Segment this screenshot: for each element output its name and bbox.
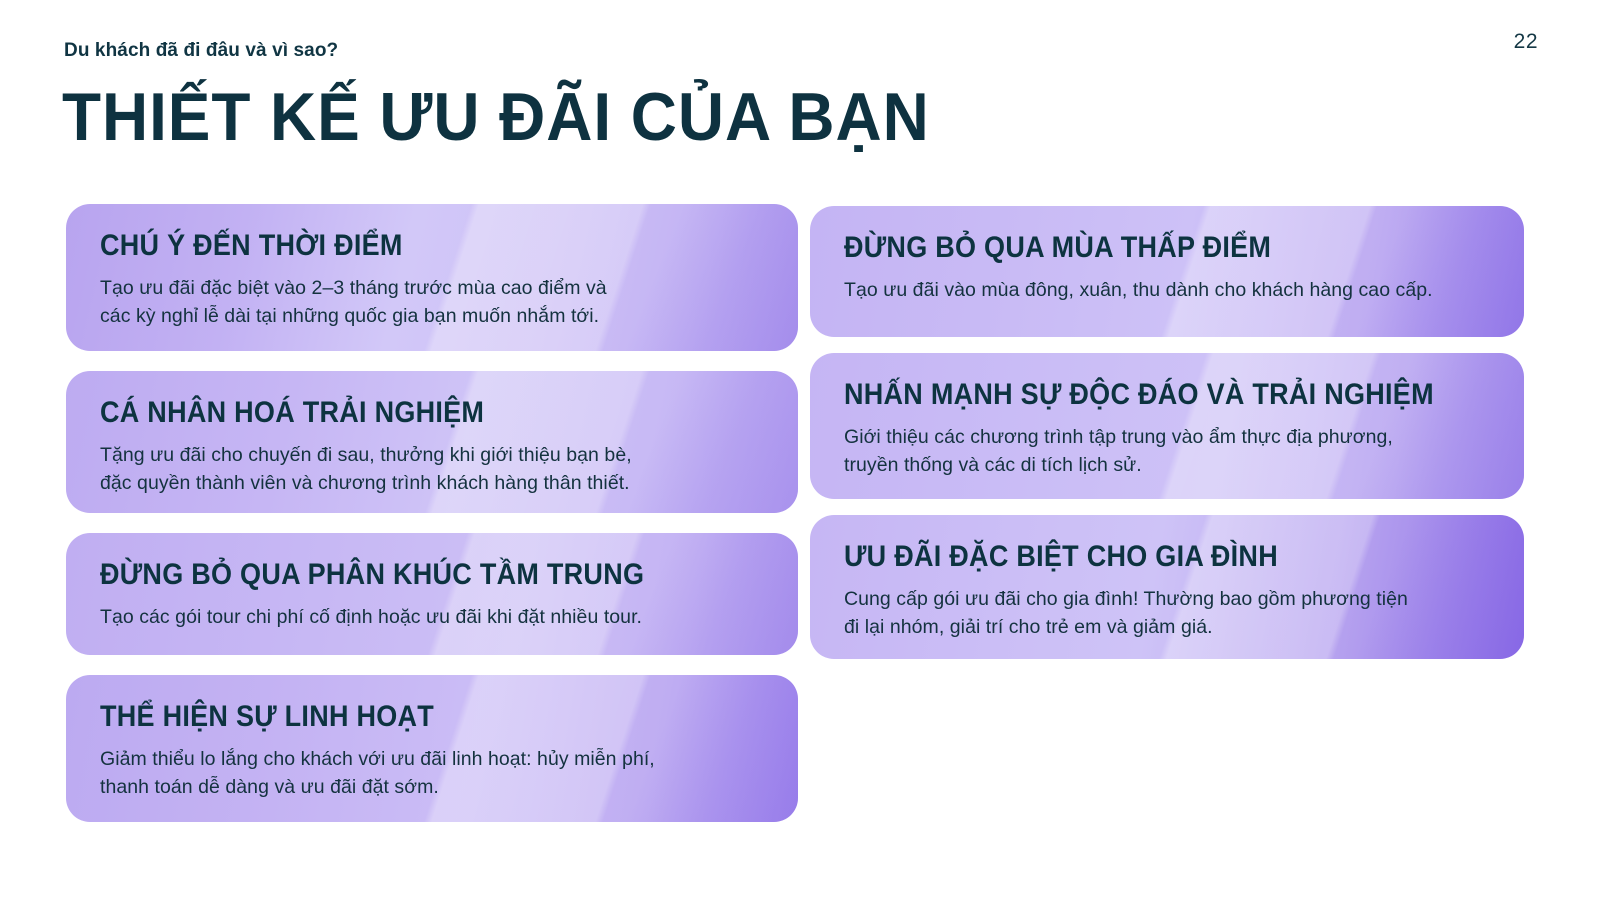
card-title: CÁ NHÂN HOÁ TRẢI NGHIỆM — [100, 397, 701, 429]
card-title: ƯU ĐÃI ĐẶC BIỆT CHO GIA ĐÌNH — [844, 541, 1429, 573]
card-body-line: Tạo ưu đãi đặc biệt vào 2–3 tháng trước … — [100, 274, 768, 302]
cards-grid: CHÚ Ý ĐẾN THỜI ĐIỂM Tạo ưu đãi đặc biệt … — [0, 0, 1600, 900]
card-body: Cung cấp gói ưu đãi cho gia đình! Thường… — [844, 585, 1494, 641]
card-body: Tặng ưu đãi cho chuyến đi sau, thưởng kh… — [100, 441, 768, 497]
card-body-line: đặc quyền thành viên và chương trình khá… — [100, 469, 768, 497]
card-body-line: Tặng ưu đãi cho chuyến đi sau, thưởng kh… — [100, 441, 768, 469]
card-body-line: Cung cấp gói ưu đãi cho gia đình! Thường… — [844, 585, 1494, 613]
card-body: Giảm thiểu lo lắng cho khách với ưu đãi … — [100, 745, 768, 801]
card-flexibility[interactable]: THỂ HIỆN SỰ LINH HOẠT Giảm thiểu lo lắng… — [66, 675, 798, 822]
card-body-line: thanh toán dễ dàng và ưu đãi đặt sớm. — [100, 773, 768, 801]
card-family-offer[interactable]: ƯU ĐÃI ĐẶC BIỆT CHO GIA ĐÌNH Cung cấp gó… — [810, 515, 1524, 659]
card-low-season[interactable]: ĐỪNG BỎ QUA MÙA THẤP ĐIỂM Tạo ưu đãi vào… — [810, 206, 1524, 337]
card-body-line: đi lại nhóm, giải trí cho trẻ em và giảm… — [844, 613, 1494, 641]
card-body: Tạo ưu đãi đặc biệt vào 2–3 tháng trước … — [100, 274, 768, 330]
right-column: ĐỪNG BỎ QUA MÙA THẤP ĐIỂM Tạo ưu đãi vào… — [810, 206, 1524, 675]
card-personalization[interactable]: CÁ NHÂN HOÁ TRẢI NGHIỆM Tặng ưu đãi cho … — [66, 371, 798, 513]
slide: Du khách đã đi đâu và vì sao? 22 THIẾT K… — [0, 0, 1600, 900]
card-title: ĐỪNG BỎ QUA PHÂN KHÚC TẦM TRUNG — [100, 559, 701, 591]
card-uniqueness[interactable]: NHẤN MẠNH SỰ ĐỘC ĐÁO VÀ TRẢI NGHIỆM Giới… — [810, 353, 1524, 499]
card-body: Giới thiệu các chương trình tập trung và… — [844, 423, 1494, 479]
card-body: Tạo ưu đãi vào mùa đông, xuân, thu dành … — [844, 276, 1506, 304]
card-body: Tạo các gói tour chi phí cố định hoặc ưu… — [100, 603, 768, 631]
card-body-line: Giới thiệu các chương trình tập trung và… — [844, 423, 1494, 451]
card-timing[interactable]: CHÚ Ý ĐẾN THỜI ĐIỂM Tạo ưu đãi đặc biệt … — [66, 204, 798, 351]
card-mid-segment[interactable]: ĐỪNG BỎ QUA PHÂN KHÚC TẦM TRUNG Tạo các … — [66, 533, 798, 655]
card-title: NHẤN MẠNH SỰ ĐỘC ĐÁO VÀ TRẢI NGHIỆM — [844, 379, 1429, 411]
card-body-line: các kỳ nghỉ lễ dài tại những quốc gia bạ… — [100, 302, 768, 330]
card-body-line: Tạo các gói tour chi phí cố định hoặc ưu… — [100, 603, 768, 631]
card-body-line: Tạo ưu đãi vào mùa đông, xuân, thu dành … — [844, 276, 1506, 304]
left-column: CHÚ Ý ĐẾN THỜI ĐIỂM Tạo ưu đãi đặc biệt … — [66, 204, 798, 842]
card-body-line: truyền thống và các di tích lịch sử. — [844, 451, 1494, 479]
card-title: THỂ HIỆN SỰ LINH HOẠT — [100, 701, 701, 733]
card-title: ĐỪNG BỎ QUA MÙA THẤP ĐIỂM — [844, 232, 1440, 264]
card-title: CHÚ Ý ĐẾN THỜI ĐIỂM — [100, 230, 701, 262]
card-body-line: Giảm thiểu lo lắng cho khách với ưu đãi … — [100, 745, 768, 773]
